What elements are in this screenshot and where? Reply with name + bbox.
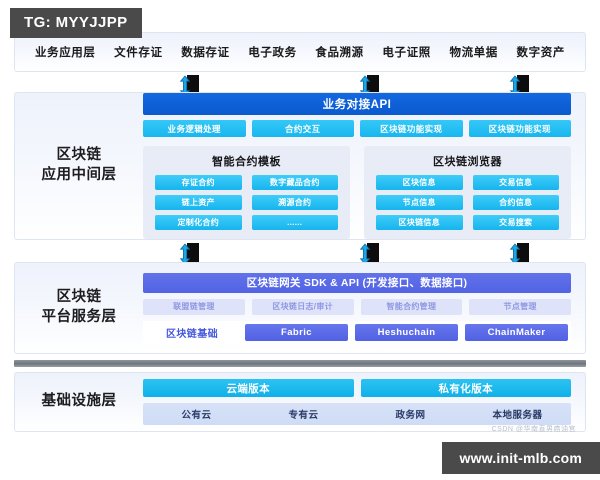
explorer-chip-0[interactable]: 区块信息 xyxy=(376,175,463,190)
middleware-layer-label: 区块链 应用中间层 xyxy=(15,146,143,185)
base-item-chainmaker[interactable]: ChainMaker xyxy=(465,324,568,341)
architecture-diagram: TG: MYYJJPP 业务应用层 文件存证 数据存证 电子政务 食品溯源 电子… xyxy=(0,0,600,480)
blockchain-explorer-grid: 区块信息 交易信息 节点信息 合约信息 区块链信息 交易搜索 xyxy=(376,175,559,230)
sdk-item-0[interactable]: 联盟链管理 xyxy=(143,299,245,315)
blockchain-explorer-title: 区块链浏览器 xyxy=(376,153,559,169)
sdk-item-3[interactable]: 节点管理 xyxy=(469,299,571,315)
explorer-chip-2[interactable]: 节点信息 xyxy=(376,195,463,210)
contract-chip-1[interactable]: 数字藏品合约 xyxy=(252,175,339,190)
platform-label-line2: 平台服务层 xyxy=(15,308,143,328)
middleware-label-line1: 区块链 xyxy=(15,146,143,166)
api-item-2[interactable]: 区块链功能实现 xyxy=(360,120,463,137)
platform-service-layer-band: 区块链 平台服务层 区块链网关 SDK & API (开发接口、数据接口) 联盟… xyxy=(14,262,586,354)
explorer-chip-3[interactable]: 合约信息 xyxy=(473,195,560,210)
contract-chip-3[interactable]: 溯源合约 xyxy=(252,195,339,210)
blockchain-base-label: 区块链基础 xyxy=(146,325,238,340)
infra-item-0[interactable]: 公有云 xyxy=(143,403,250,425)
edition-private[interactable]: 私有化版本 xyxy=(361,379,572,397)
application-layer-band: 业务应用层 文件存证 数据存证 电子政务 食品溯源 电子证照 物流单据 数字资产 xyxy=(14,32,586,72)
sdk-item-2[interactable]: 智能合约管理 xyxy=(361,299,463,315)
blockchain-explorer-panel: 区块链浏览器 区块信息 交易信息 节点信息 合约信息 区块链信息 交易搜索 xyxy=(364,146,571,239)
explorer-chip-1[interactable]: 交易信息 xyxy=(473,175,560,190)
api-item-3[interactable]: 区块链功能实现 xyxy=(469,120,572,137)
contract-chip-5[interactable]: ...... xyxy=(252,215,339,230)
explorer-chip-5[interactable]: 交易搜索 xyxy=(473,215,560,230)
smart-contract-template-panel: 智能合约模板 存证合约 数字藏品合约 链上资产 溯源合约 定制化合约 .....… xyxy=(143,146,350,239)
business-api-items: 业务逻辑处理 合约交互 区块链功能实现 区块链功能实现 xyxy=(143,120,571,137)
app-item-4[interactable]: 食品溯源 xyxy=(315,44,363,60)
edition-cloud[interactable]: 云端版本 xyxy=(143,379,354,397)
layer-divider xyxy=(14,360,586,367)
base-item-heshuchain[interactable]: Heshuchain xyxy=(355,324,458,341)
contract-chip-4[interactable]: 定制化合约 xyxy=(155,215,242,230)
smart-contract-template-title: 智能合约模板 xyxy=(155,153,338,169)
gateway-sdk-header: 区块链网关 SDK & API (开发接口、数据接口) xyxy=(143,273,571,293)
blockchain-base-row: 区块链基础 Fabric Heshuchain ChainMaker xyxy=(143,321,571,344)
application-layer-items: 业务应用层 文件存证 数据存证 电子政务 食品溯源 电子证照 物流单据 数字资产 xyxy=(19,44,581,60)
platform-layer-body: 区块链网关 SDK & API (开发接口、数据接口) 联盟链管理 区块链日志/… xyxy=(143,273,585,344)
base-item-fabric[interactable]: Fabric xyxy=(245,324,348,341)
explorer-chip-4[interactable]: 区块链信息 xyxy=(376,215,463,230)
app-item-5[interactable]: 电子证照 xyxy=(382,44,430,60)
contract-chip-0[interactable]: 存证合约 xyxy=(155,175,242,190)
app-item-3[interactable]: 电子政务 xyxy=(248,44,296,60)
sdk-item-1[interactable]: 区块链日志/审计 xyxy=(252,299,354,315)
middleware-layer-body: 业务对接API 业务逻辑处理 合约交互 区块链功能实现 区块链功能实现 智能合约… xyxy=(143,93,585,239)
infra-item-3[interactable]: 本地服务器 xyxy=(464,403,571,425)
smart-contract-template-grid: 存证合约 数字藏品合约 链上资产 溯源合约 定制化合约 ...... xyxy=(155,175,338,230)
app-item-1[interactable]: 文件存证 xyxy=(114,44,162,60)
platform-layer-label: 区块链 平台服务层 xyxy=(15,288,143,327)
infrastructure-layer-body: 云端版本 私有化版本 公有云 专有云 政务网 本地服务器 xyxy=(143,379,585,425)
middleware-label-line2: 应用中间层 xyxy=(15,166,143,186)
infrastructure-editions: 云端版本 私有化版本 xyxy=(143,379,571,397)
api-item-1[interactable]: 合约交互 xyxy=(252,120,355,137)
watermark-bottom-url: www.init-mlb.com xyxy=(442,442,600,474)
contract-chip-2[interactable]: 链上资产 xyxy=(155,195,242,210)
infra-item-2[interactable]: 政务网 xyxy=(357,403,464,425)
platform-label-line1: 区块链 xyxy=(15,288,143,308)
watermark-csdn: CSDN @华南直男癌油官 xyxy=(492,424,576,434)
infrastructure-layer-label: 基础设施层 xyxy=(15,392,143,412)
watermark-top-tag: TG: MYYJJPP xyxy=(10,8,142,38)
middleware-panels: 智能合约模板 存证合约 数字藏品合约 链上资产 溯源合约 定制化合约 .....… xyxy=(143,146,571,239)
app-item-2[interactable]: 数据存证 xyxy=(181,44,229,60)
business-api-header: 业务对接API xyxy=(143,93,571,115)
gateway-sdk-items: 联盟链管理 区块链日志/审计 智能合约管理 节点管理 xyxy=(143,299,571,315)
app-item-7[interactable]: 数字资产 xyxy=(517,44,565,60)
infrastructure-layer-band: 基础设施层 云端版本 私有化版本 公有云 专有云 政务网 本地服务器 xyxy=(14,372,586,432)
infra-item-1[interactable]: 专有云 xyxy=(250,403,357,425)
app-item-6[interactable]: 物流单据 xyxy=(449,44,497,60)
app-item-0[interactable]: 业务应用层 xyxy=(35,44,96,60)
api-item-0[interactable]: 业务逻辑处理 xyxy=(143,120,246,137)
infrastructure-items: 公有云 专有云 政务网 本地服务器 xyxy=(143,403,571,425)
middleware-layer-band: 区块链 应用中间层 业务对接API 业务逻辑处理 合约交互 区块链功能实现 区块… xyxy=(14,92,586,240)
